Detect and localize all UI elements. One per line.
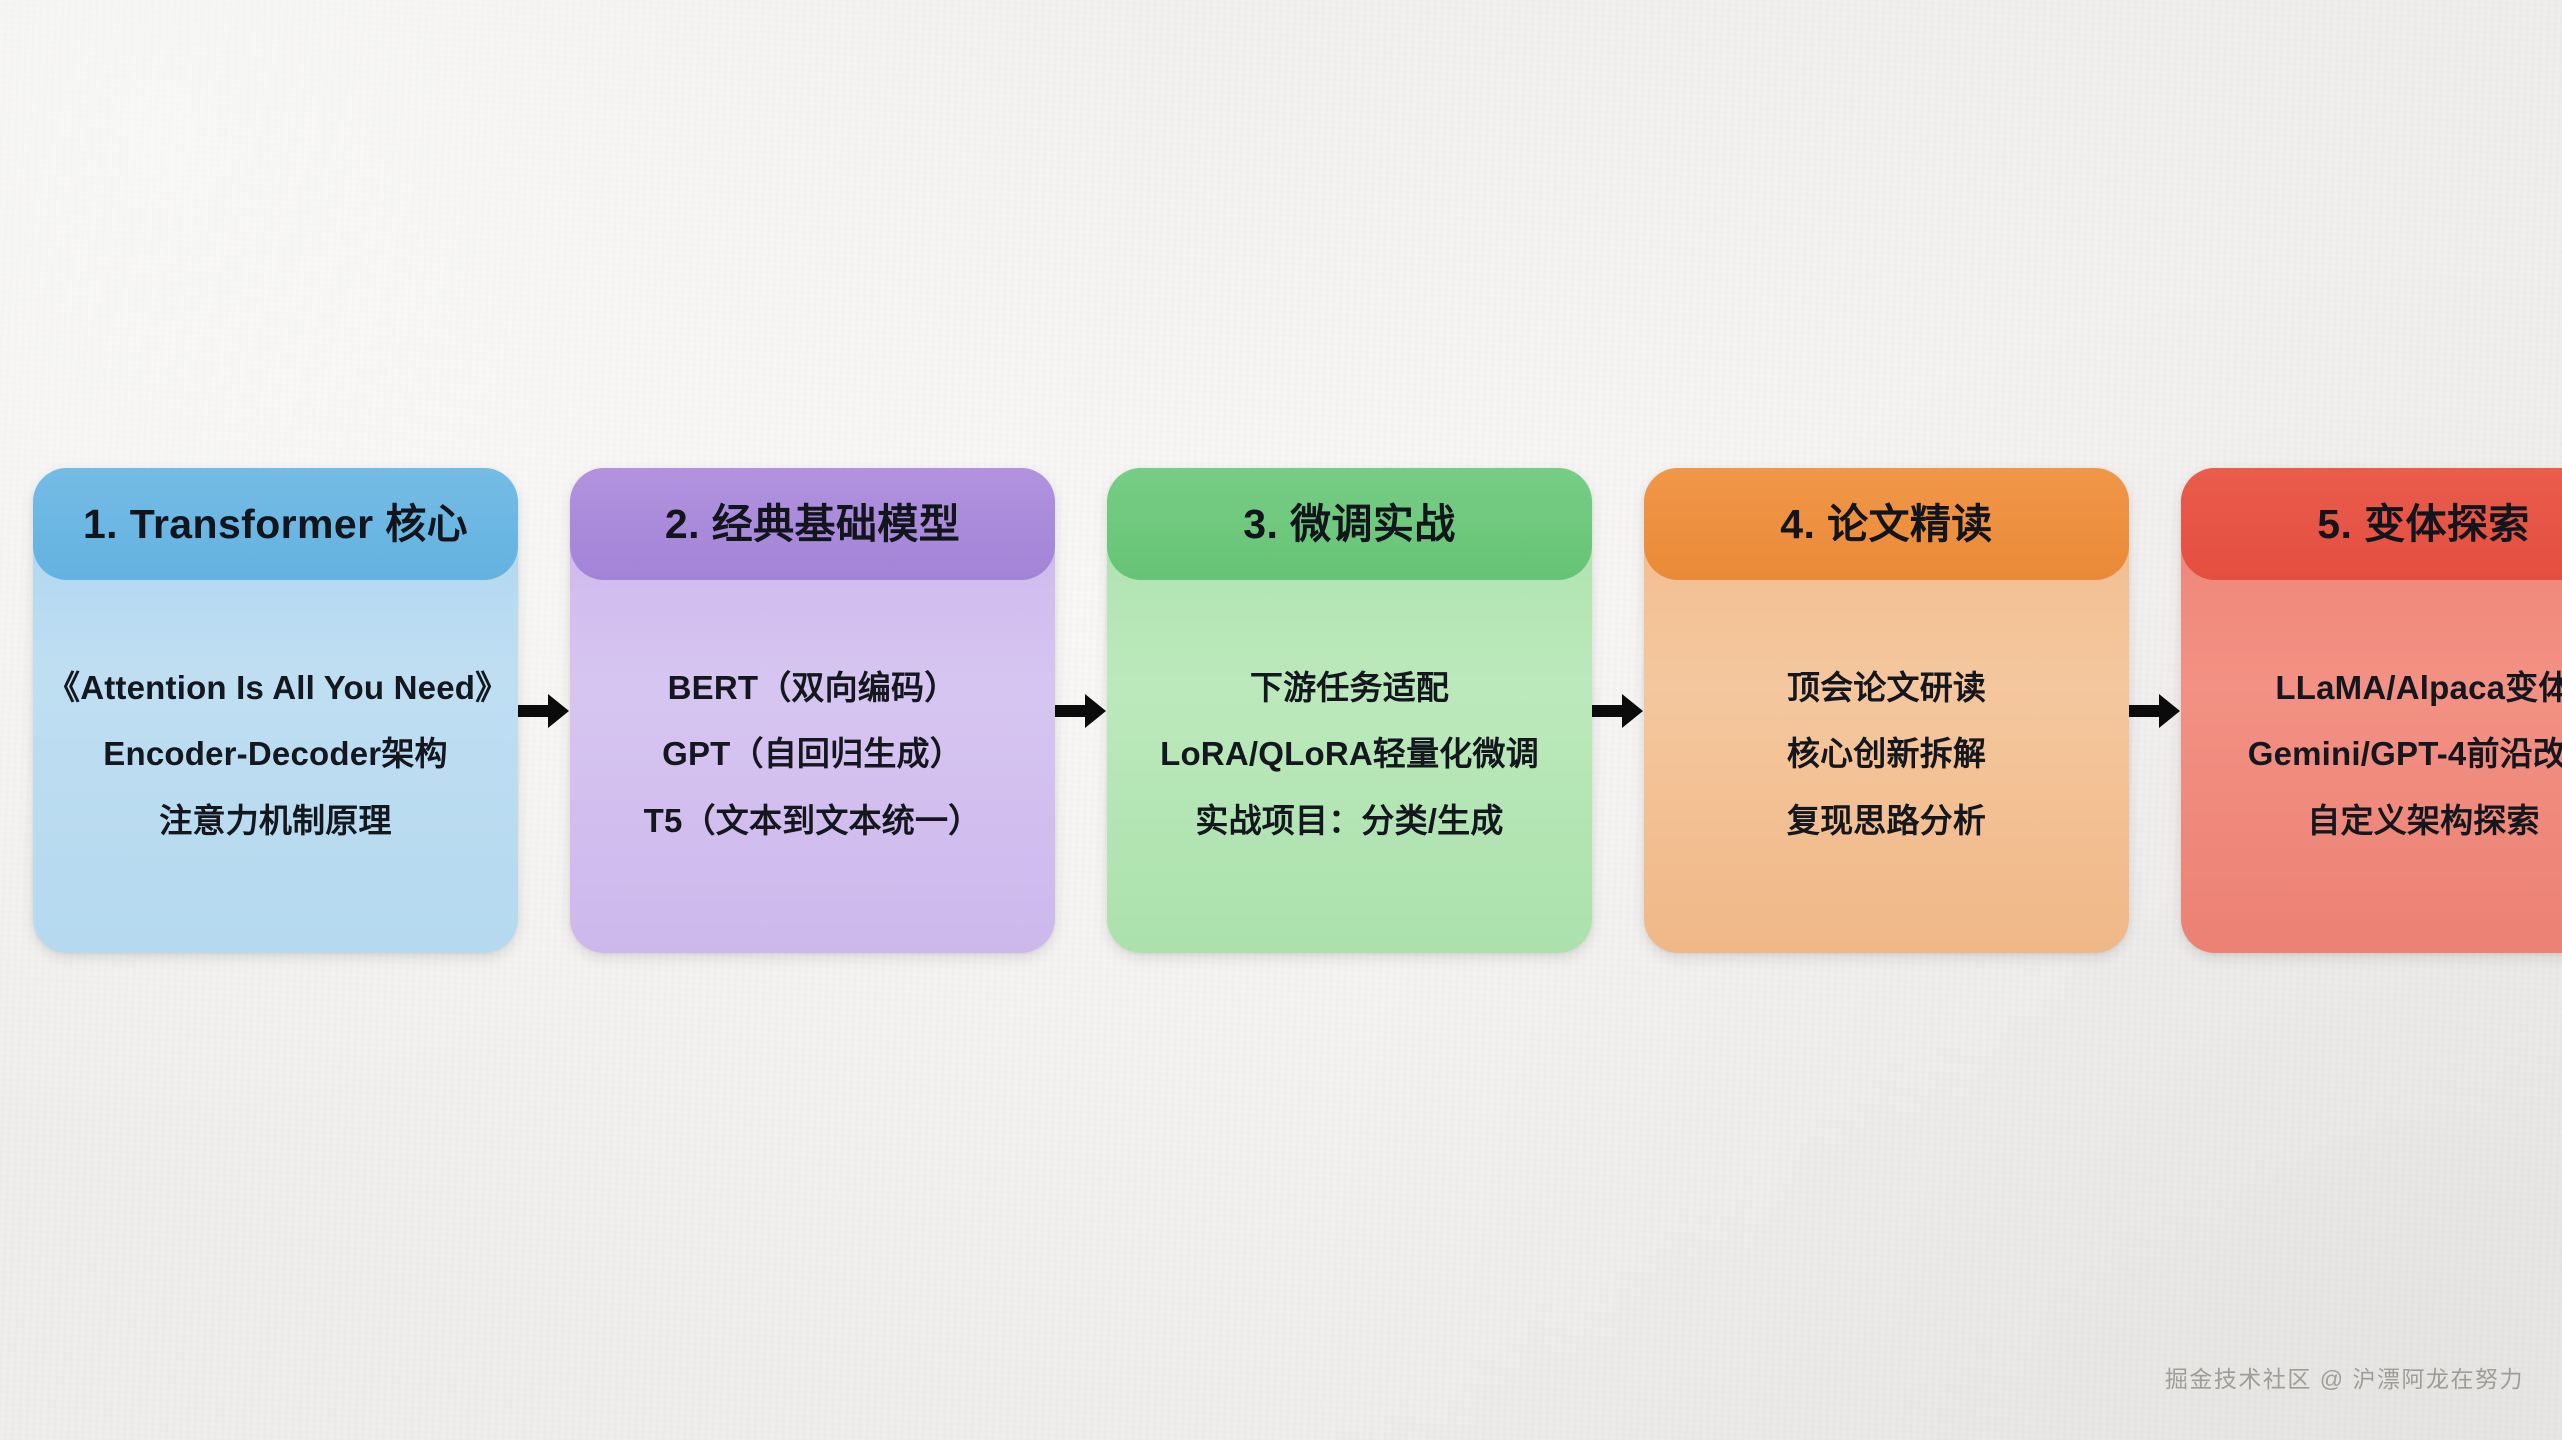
card-title: 1. Transformer 核心 xyxy=(83,504,468,545)
flow-step-classic-base-models[interactable]: 2. 经典基础模型 BERT（双向编码） GPT（自回归生成） T5（文本到文本… xyxy=(570,468,1055,953)
arrow-right-icon xyxy=(518,690,570,732)
card-line: BERT（双向编码） xyxy=(668,668,958,708)
arrow-4-5 xyxy=(2129,468,2181,953)
card-line: 实战项目：分类/生成 xyxy=(1195,801,1503,841)
card-line: 注意力机制原理 xyxy=(159,801,391,841)
card-line: LLaMA/Alpaca变体 xyxy=(2275,668,2562,708)
card-header: 1. Transformer 核心 xyxy=(33,468,518,580)
card-line: LoRA/QLoRA轻量化微调 xyxy=(1160,734,1539,774)
card-line: Gemini/GPT-4前沿改进 xyxy=(2248,734,2562,774)
arrow-3-4 xyxy=(1592,468,1644,953)
arrow-right-icon xyxy=(1592,690,1644,732)
card-title: 4. 论文精读 xyxy=(1780,504,1992,545)
card-line: 自定义架构探索 xyxy=(2307,801,2539,841)
card-header: 3. 微调实战 xyxy=(1107,468,1592,580)
card-title: 2. 经典基础模型 xyxy=(665,504,960,545)
card-header: 5. 变体探索 xyxy=(2181,468,2562,580)
card-content: 《Attention Is All You Need》 Encoder-Deco… xyxy=(33,586,518,953)
arrow-2-3 xyxy=(1055,468,1107,953)
card-line: 核心创新拆解 xyxy=(1787,734,1986,774)
flow-step-paper-reading[interactable]: 4. 论文精读 顶会论文研读 核心创新拆解 复现思路分析 xyxy=(1644,468,2129,953)
card-title: 5. 变体探索 xyxy=(2317,504,2529,545)
card-line: 《Attention Is All You Need》 xyxy=(47,668,504,708)
card-header: 4. 论文精读 xyxy=(1644,468,2129,580)
card-header: 2. 经典基础模型 xyxy=(570,468,1055,580)
card-title: 3. 微调实战 xyxy=(1243,504,1455,545)
diagram-canvas: 1. Transformer 核心 《Attention Is All You … xyxy=(0,0,2562,1440)
card-line: 复现思路分析 xyxy=(1787,801,1986,841)
card-content: 下游任务适配 LoRA/QLoRA轻量化微调 实战项目：分类/生成 xyxy=(1107,586,1592,953)
flow-step-transformer-core[interactable]: 1. Transformer 核心 《Attention Is All You … xyxy=(33,468,518,953)
card-line: GPT（自回归生成） xyxy=(662,734,963,774)
arrow-right-icon xyxy=(1055,690,1107,732)
flow-chart: 1. Transformer 核心 《Attention Is All You … xyxy=(0,468,2562,958)
arrow-right-icon xyxy=(2129,690,2181,732)
flow-step-variant-exploration[interactable]: 5. 变体探索 LLaMA/Alpaca变体 Gemini/GPT-4前沿改进 … xyxy=(2181,468,2562,953)
arrow-1-2 xyxy=(518,468,570,953)
flow-step-finetune-practice[interactable]: 3. 微调实战 下游任务适配 LoRA/QLoRA轻量化微调 实战项目：分类/生… xyxy=(1107,468,1592,953)
card-line: 顶会论文研读 xyxy=(1787,668,1986,708)
card-line: T5（文本到文本统一） xyxy=(644,801,982,841)
card-content: 顶会论文研读 核心创新拆解 复现思路分析 xyxy=(1644,586,2129,953)
card-content: LLaMA/Alpaca变体 Gemini/GPT-4前沿改进 自定义架构探索 xyxy=(2181,586,2562,953)
watermark: 掘金技术社区 @ 沪漂阿龙在努力 xyxy=(2165,1360,2524,1394)
card-line: Encoder-Decoder架构 xyxy=(103,734,447,774)
card-line: 下游任务适配 xyxy=(1250,668,1449,708)
card-content: BERT（双向编码） GPT（自回归生成） T5（文本到文本统一） xyxy=(570,586,1055,953)
